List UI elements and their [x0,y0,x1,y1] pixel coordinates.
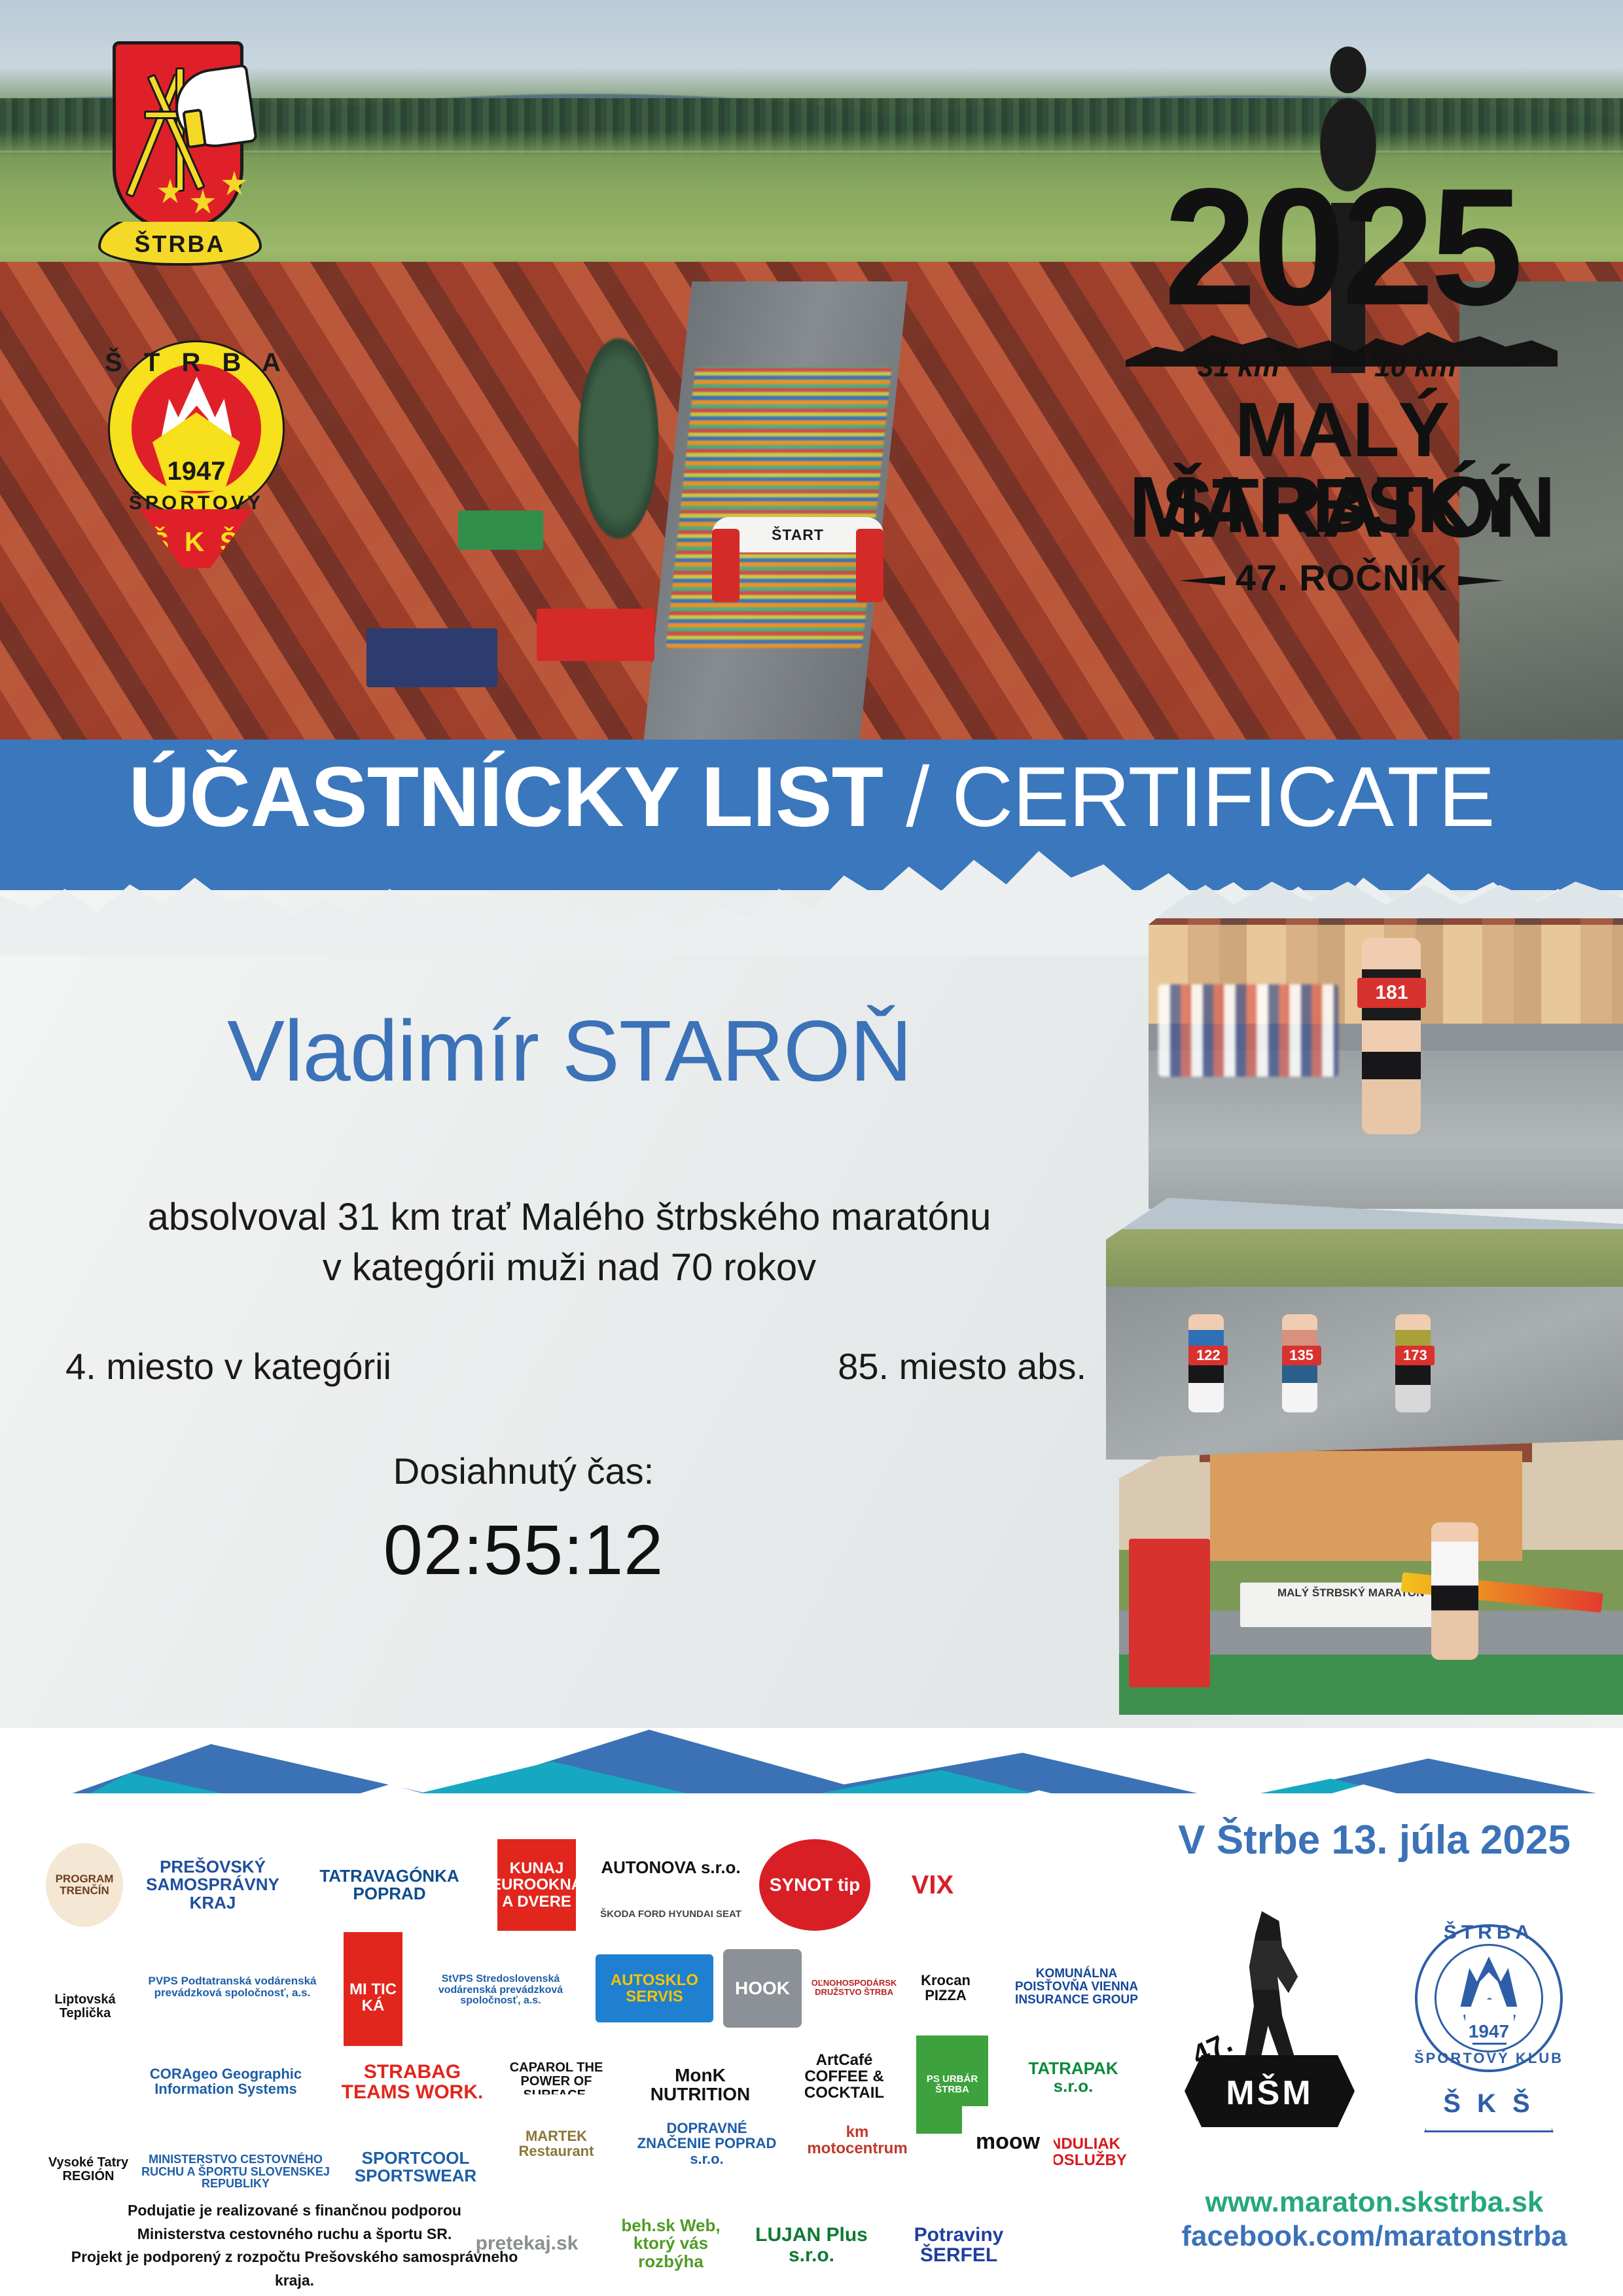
start-arch: ŠTART [712,517,883,602]
sponsor-name: StVPS Stredoslovenská vodárenská prevádz… [419,1974,582,2007]
sponsor-name: KUNAJ EUROOKNÁ A DVERE [497,1860,576,1910]
placement-row: 4. miesto v kategórii 85. miesto abs. [65,1345,1086,1388]
finisher-bib-number: 181 [1357,978,1426,1008]
sponsor-logo: km motocentrum [805,2101,910,2179]
sponsor-logo: LUJAN Plus s.r.o. [753,2206,870,2284]
website-link[interactable]: www.maraton.skstrba.sk [1165,2186,1584,2219]
sponsor-name: TATRAVAGÓNKA POPRAD [308,1867,471,1903]
sponsor-name: POĽNOHOSPODÁRSKE DRUŽSTVO ŠTRBA [811,1979,897,1996]
sponsor-name: MINISTERSTVO CESTOVNÉHO RUCHU A ŠPORTU S… [137,2153,334,2191]
sponsor-logo: SPORTCOOL SPORTSWEAR [340,2131,491,2203]
sks-club-logo: Š T R B A 1947 ŠPORTOVÝ KLUB Š K Š [101,334,291,569]
sks-stamp-triangle: Š K Š [1424,2070,1554,2132]
banner-title-slovak: ÚČASTNÍCKY LIST [128,749,883,844]
runner-crowd [666,367,891,648]
arrow-left-icon [1179,576,1225,585]
photo-runners-on-road: 122 135 173 [1106,1198,1623,1460]
sponsor-logo: TATRAVAGÓNKA POPRAD [308,1851,471,1919]
msm-acronym: MŠM [1185,2073,1355,2113]
sponsor-name: AUTONOVA s.r.o. [601,1859,740,1876]
photo-collage: 181 122 135 173 MALÝ ŠTRBSKÝ MARATÓN [1106,864,1623,1721]
sponsor-logo: SYNOT tip [759,1839,870,1931]
event-year: 2025 [1113,164,1571,331]
sponsor-logo: MARTEK Restaurant [504,2094,609,2193]
sponsor-logo: Liptovská Teplička [46,1941,124,2072]
sks-stamp-badge: ŠTRBA 1947 ŠPORTOVÝ KLUB Š K Š [1400,1905,1577,2134]
category-placement: 4. miesto v kategórii [65,1345,391,1388]
sks-stamp-bottom: ŠPORTOVÝ KLUB [1400,2050,1577,2067]
runner-bib-a: 122 [1188,1346,1228,1365]
sponsor-name: PREŠOVSKÝ SAMOSPRÁVNY KRAJ [137,1858,288,1912]
date-and-place: V Štrbe 13. júla 2025 [1165,1817,1584,1863]
sponsor-name: KOMUNÁLNA POISŤOVŇA VIENNA INSURANCE GRO… [998,1967,1155,2007]
runner-bib-c: 173 [1395,1346,1435,1365]
sponsor-logo: Potraviny ŠERFEL [890,2206,1027,2284]
sponsor-logo: HOOK [723,1949,802,2028]
sponsor-logo: moow [962,2106,1054,2178]
event-title-line2: MARATÓN [1113,465,1571,549]
msm-diamond: MŠM [1185,2055,1355,2127]
sks-acronym: Š K Š [139,526,253,558]
funding-note-line-2: Ministerstva cestovného ruchu a športu S… [52,2223,537,2246]
sponsor-name: PS URBÁR ŠTRBA [916,2074,988,2095]
sponsor-name: LUJAN Plus s.r.o. [753,2225,870,2266]
achievement-description: absolvoval 31 km trať Malého štrbského m… [39,1193,1099,1293]
sponsor-logo: KUNAJ EUROOKNÁ A DVERE [497,1839,576,1931]
sponsor-name: PROGRAM TRENČÍN [46,1873,123,1897]
green-tent [458,511,543,550]
sponsor-logo: AUTONOVA s.r.o. [596,1839,746,1897]
sponsor-logo: CORAgeo Geographic Information Systems [137,2042,314,2121]
sponsor-name: MI TIC KÁ [344,1981,402,2014]
sponsor-name: SYNOT tip [770,1875,860,1894]
distance-long: 31 km [1198,351,1279,384]
finish-time: 02:55:12 [39,1509,1008,1590]
sponsor-name: AUTOSKLO SERVIS [596,1972,713,2005]
sponsor-name: STRABAG TEAMS WORK. [340,2062,484,2103]
absolute-placement: 85. miesto abs. [838,1345,1086,1388]
sponsor-logo: MI TIC KÁ [344,1932,402,2063]
distance-short: 10 km [1374,351,1456,384]
banner-title-separator: / [883,749,952,844]
red-tent [537,609,654,661]
sponsor-name: Liptovská Teplička [46,1993,124,2020]
sponsor-name: MonK NUTRITION [635,2066,766,2104]
sponsor-logo: PVPS Podtatranská vodárenská prevádzková… [137,1948,327,2026]
sponsor-name: PVPS Podtatranská vodárenská prevádzková… [137,1975,327,1999]
spruce-tree [569,308,668,569]
sponsor-name: SPORTCOOL SPORTSWEAR [340,2149,491,2185]
distance-ridge: 31 km 10 km [1126,314,1558,393]
sponsor-logo: PREŠOVSKÝ SAMOSPRÁVNY KRAJ [137,1851,288,1919]
sponsor-name: Vysoké Tatry REGIÓN [46,2156,131,2183]
sponsor-name: ŠKODA FORD HYUNDAI SEAT [600,1909,741,1920]
event-edition-row: 47. ROČNÍK [1113,556,1571,599]
sponsor-logo: beh.sk Web, ktorý vás rozbýha [609,2212,733,2275]
sponsor-logo: VIX [883,1837,982,1933]
sponsor-name: VIX [912,1871,954,1899]
sks-stamp-year: 1947 [1400,2021,1577,2042]
footer-badges: 47. MŠM ŠTRBA 1947 ŠPORTOVÝ KLUB Š K Š [1171,1892,1577,2166]
sponsor-name: DOPRAVNÉ ZNAČENIE POPRAD s.r.o. [628,2121,785,2166]
banner-title-english: CERTIFICATE [952,749,1494,844]
sks-stamp-acronym: Š K Š [1426,2089,1552,2119]
photo-finish-line: MALÝ ŠTRBSKÝ MARATÓN [1119,1440,1623,1715]
sponsor-grid: PROGRAM TRENČÍNPREŠOVSKÝ SAMOSPRÁVNY KRA… [46,1813,1158,2219]
coa-ribbon-text: ŠTRBA [101,230,259,258]
sponsor-name: TATRAPAK s.r.o. [1008,2060,1139,2096]
facebook-link[interactable]: facebook.com/maratonstrba [1165,2220,1584,2253]
sponsor-name: km motocentrum [805,2124,910,2157]
description-line-2: v kategórii muži nad 70 rokov [39,1243,1099,1293]
funding-note-line-1: Podujatie je realizované s finančnou pod… [52,2199,537,2223]
funding-note: Podujatie je realizované s finančnou pod… [52,2199,537,2293]
sponsor-section: PROGRAM TRENČÍNPREŠOVSKÝ SAMOSPRÁVNY KRA… [0,1793,1623,2296]
participant-name: Vladimír STAROŇ [39,1001,1099,1100]
msm-badge: 47. MŠM [1185,1911,1355,2134]
photo-finisher: 181 [1149,878,1623,1209]
sponsor-name: moow [976,2130,1040,2154]
sks-tail: Š K Š [139,509,253,568]
sponsor-logo: KOMUNÁLNA POISŤOVŇA VIENNA INSURANCE GRO… [998,1948,1155,2026]
sponsor-name: Potraviny ŠERFEL [890,2225,1027,2266]
sponsor-logo: TATRAPAK s.r.o. [1008,2046,1139,2109]
time-label: Dosiahnutý čas: [39,1450,1008,1492]
sponsor-logo: StVPS Stredoslovenská vodárenská prevádz… [419,1948,582,2033]
sponsor-name: HOOK [735,1979,790,1998]
sponsor-logo: POĽNOHOSPODÁRSKE DRUŽSTVO ŠTRBA [811,1944,897,2032]
blue-tent [366,628,497,687]
funding-note-line-3: Projekt je podporený z rozpočtu Prešovsk… [52,2246,537,2292]
sponsor-logo: PROGRAM TRENČÍN [46,1843,123,1927]
sponsor-name: CORAgeo Geographic Information Systems [137,2066,314,2096]
sks-year: 1947 [101,457,291,486]
sponsor-logo: ŠKODA FORD HYUNDAI SEAT [596,1897,746,1932]
sks-top-text: Š T R B A [101,348,291,378]
event-logo: 2025 31 km 10 km MALÝ ŠTRBSKÝ MARATÓN 47… [1113,39,1571,576]
sks-stamp-top: ŠTRBA [1400,1922,1577,1944]
sponsor-name: beh.sk Web, ktorý vás rozbýha [609,2217,733,2270]
description-line-1: absolvoval 31 km trať Malého štrbského m… [39,1193,1099,1243]
sponsor-name: Krocan PIZZA [903,1973,988,2003]
runner-icon [1230,1911,1309,2075]
banner-title: ÚČASTNÍCKY LIST / CERTIFICATE [0,754,1623,839]
event-edition: 47. ROČNÍK [1236,557,1448,598]
sponsor-logo: STRABAG TEAMS WORK. [340,2046,484,2118]
sponsor-logo: DOPRAVNÉ ZNAČENIE POPRAD s.r.o. [628,2108,785,2179]
arrow-right-icon [1458,576,1504,585]
sponsor-logo: Krocan PIZZA [903,1944,988,2032]
sponsor-name: MARTEK Restaurant [504,2128,609,2159]
strba-coat-of-arms: ŠTRBA [98,29,262,291]
sponsor-logo: AUTOSKLO SERVIS [596,1954,713,2022]
runner-bib-b: 135 [1282,1346,1321,1365]
